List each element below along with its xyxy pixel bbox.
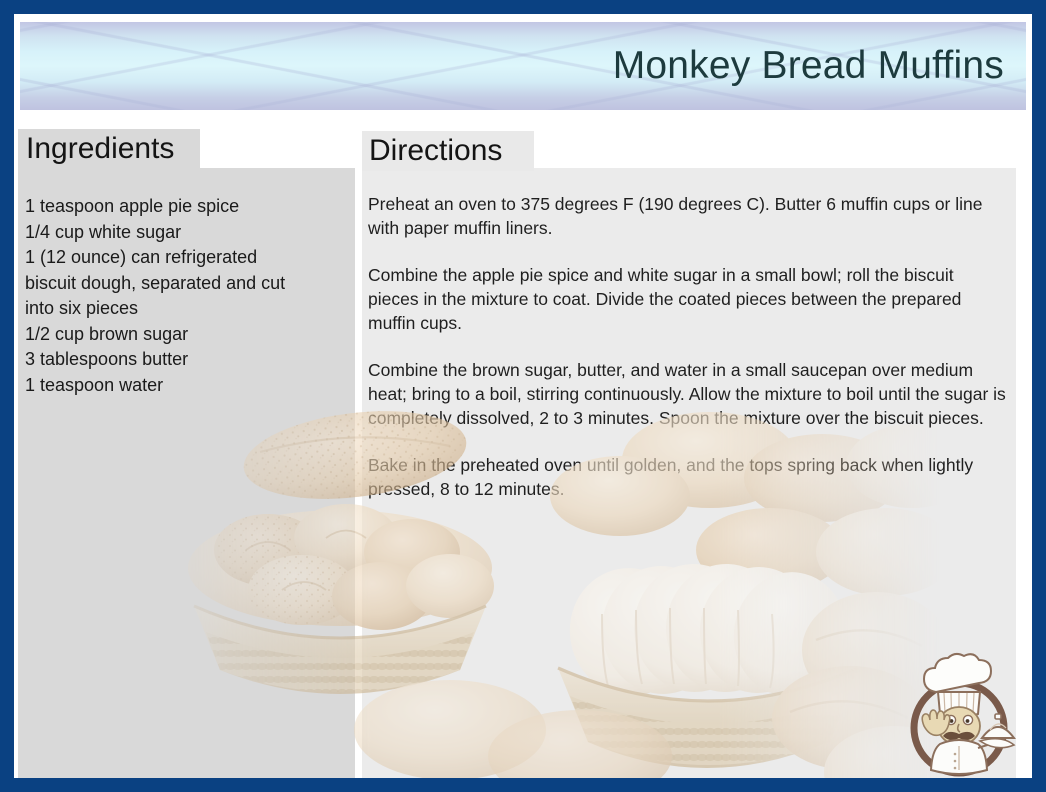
border-left xyxy=(0,0,14,792)
ingredient-item: biscuit dough, separated and cut xyxy=(25,271,351,297)
direction-step: Combine the brown sugar, butter, and wat… xyxy=(368,358,1008,430)
recipe-slide: Monkey Bread Muffins 1 teaspoon apple pi… xyxy=(0,0,1046,792)
ingredients-heading: Ingredients xyxy=(26,134,174,164)
border-right xyxy=(1032,0,1046,792)
cloche-icon xyxy=(978,714,1014,748)
ingredient-item: 1/2 cup brown sugar xyxy=(25,322,351,348)
direction-step: Preheat an oven to 375 degrees F (190 de… xyxy=(368,192,1008,240)
chef-with-cloche-logo xyxy=(898,648,1020,778)
direction-step: Bake in the preheated oven until golden,… xyxy=(368,453,1008,501)
section-tab-ingredients: Ingredients xyxy=(18,129,200,169)
ingredient-item: 1/4 cup white sugar xyxy=(25,220,351,246)
section-tab-directions: Directions xyxy=(362,131,534,171)
ingredient-item: 1 teaspoon water xyxy=(25,373,351,399)
ingredient-item: 1 (12 ounce) can refrigerated xyxy=(25,245,351,271)
border-top xyxy=(0,0,1046,14)
ingredient-item: 3 tablespoons butter xyxy=(25,347,351,373)
ingredients-panel: 1 teaspoon apple pie spice 1/4 cup white… xyxy=(18,168,355,778)
ingredients-list: 1 teaspoon apple pie spice 1/4 cup white… xyxy=(25,194,351,398)
directions-heading: Directions xyxy=(369,136,502,166)
ingredient-item: into six pieces xyxy=(25,296,351,322)
directions-list: Preheat an oven to 375 degrees F (190 de… xyxy=(368,192,1008,524)
title-banner: Monkey Bread Muffins xyxy=(20,22,1026,110)
direction-step: Combine the apple pie spice and white su… xyxy=(368,263,1008,335)
border-bottom xyxy=(0,778,1046,792)
page-title: Monkey Bread Muffins xyxy=(613,44,1004,88)
ingredient-item: 1 teaspoon apple pie spice xyxy=(25,194,351,220)
